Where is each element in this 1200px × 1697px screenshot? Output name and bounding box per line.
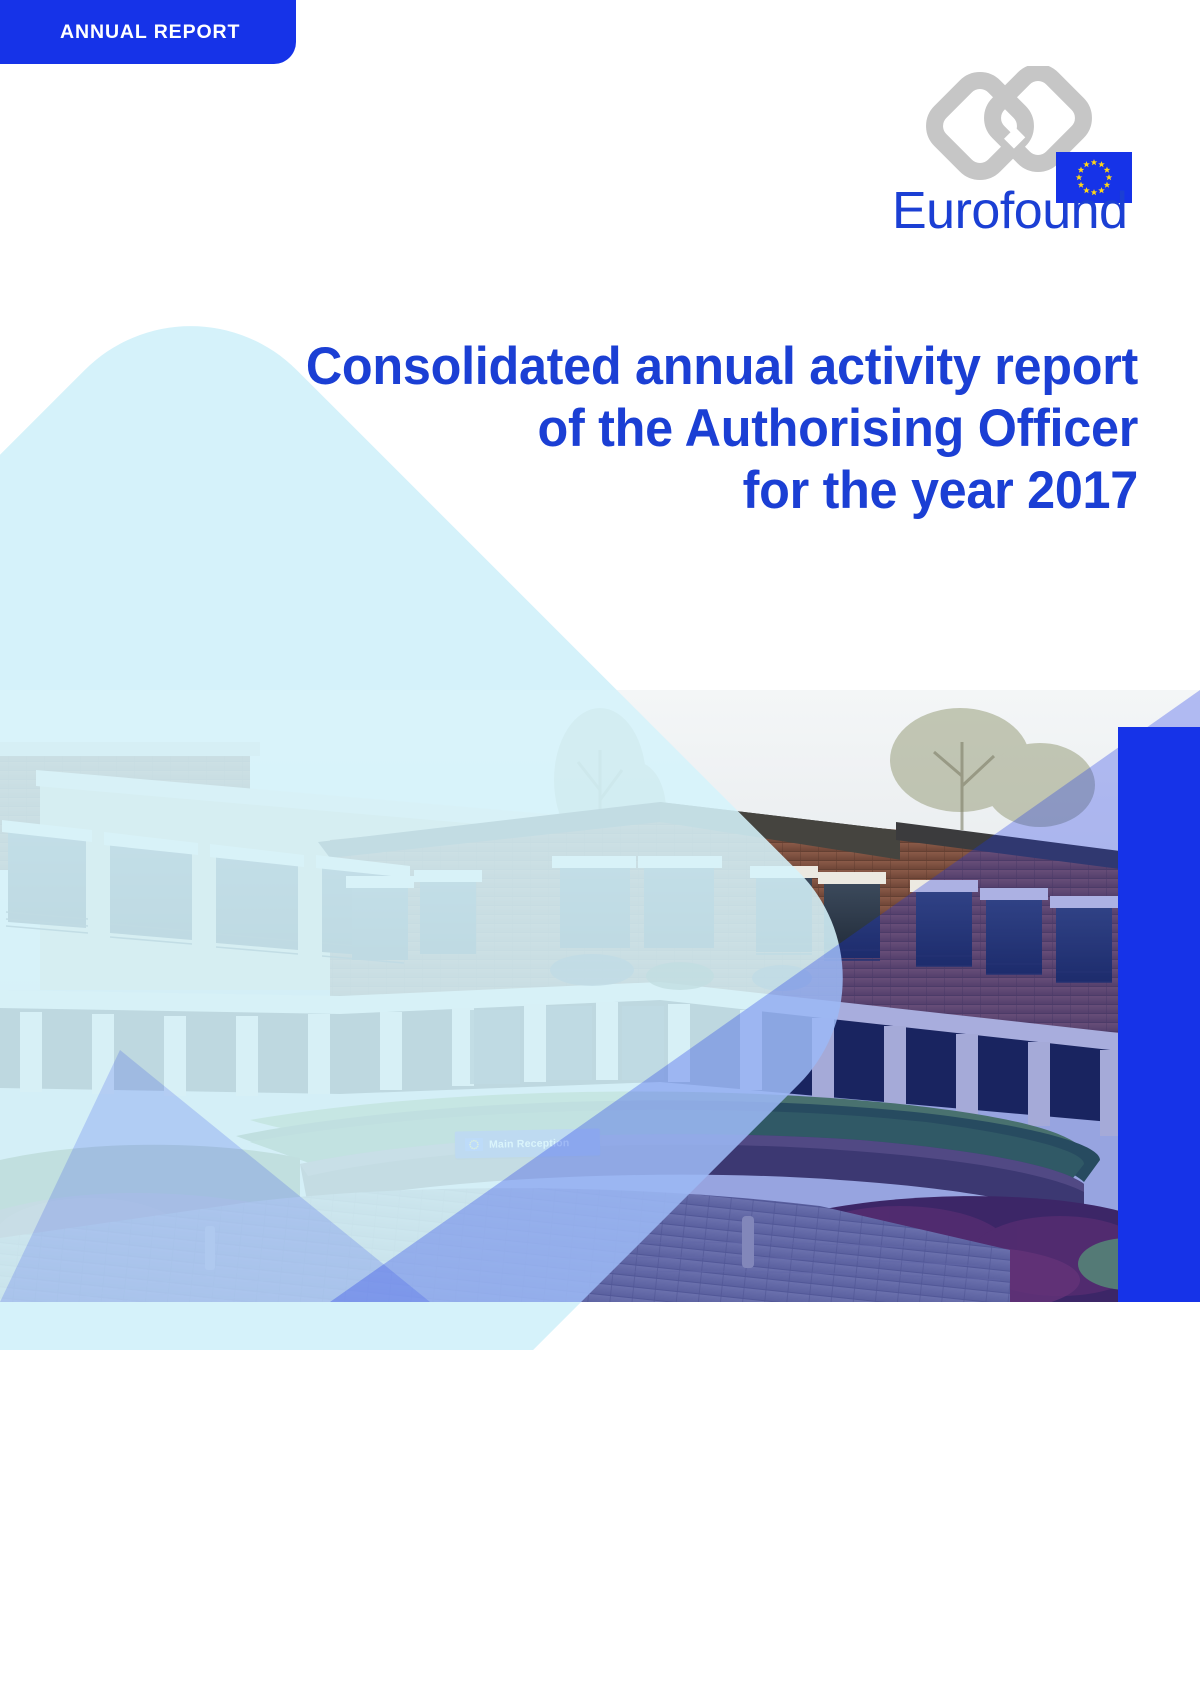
- eu-flag-icon-sign: [465, 1138, 483, 1151]
- annual-report-badge-label: ANNUAL REPORT: [60, 21, 240, 44]
- annual-report-badge: ANNUAL REPORT: [0, 0, 296, 64]
- right-blue-bar: [1118, 727, 1200, 1302]
- main-reception-sign: Main Reception: [455, 1128, 601, 1158]
- main-reception-sign-text: Main Reception: [489, 1137, 570, 1151]
- eurofound-wordmark: Eurofound: [892, 182, 1127, 240]
- cover-title: Consolidated annual activity report of t…: [238, 336, 1138, 522]
- cover-photo: [0, 690, 1200, 1302]
- cover-title-line-2: of the Authorising Officer: [283, 398, 1138, 460]
- cover-title-line-3: for the year 2017: [283, 460, 1138, 522]
- eurofound-logo: Eurofound: [888, 66, 1138, 241]
- cover-title-line-1: Consolidated annual activity report: [283, 336, 1138, 398]
- report-cover-page: ANNUAL REPORT: [0, 0, 1200, 1697]
